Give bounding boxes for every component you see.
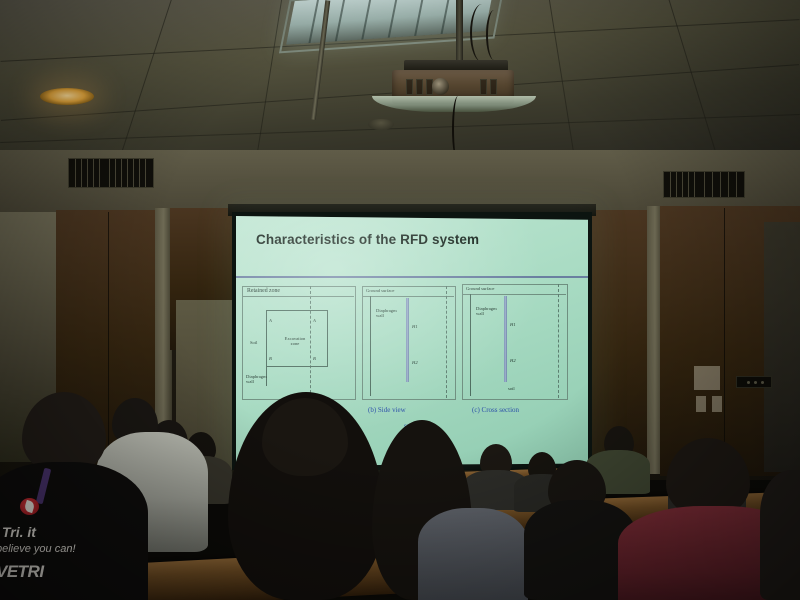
slide-title: Characteristics of the RFD system (256, 232, 479, 247)
figure-b-side-view (362, 286, 456, 400)
label-h1-c: H1 (510, 322, 516, 327)
shirt-text-line2: believe you can! (0, 543, 76, 555)
wall-notice (694, 366, 720, 390)
shirt-brand: VETRI (0, 562, 44, 582)
wall-notice-2 (696, 396, 706, 412)
projector-pole (456, 0, 463, 66)
label-soil-c: soil (508, 386, 515, 391)
label-ground-surface-c: Ground surface (466, 286, 494, 291)
caption-figure-b: (b) Side view (368, 406, 406, 414)
label-diaphragm-wall-c: Diaphragm wall (476, 306, 502, 317)
label-diaphragm-wall-b: Diaphragm wall (376, 308, 402, 319)
label-ground-surface-b: Ground surface (366, 288, 394, 293)
label-soil-a: Soil (250, 340, 257, 345)
air-vent-left (68, 158, 154, 188)
smoke-detector-icon (368, 119, 394, 130)
slide-figure-area: Retained zone Soil Diaphragm wall Excava… (240, 282, 584, 402)
recessed-downlight (40, 88, 94, 105)
title-divider (236, 276, 588, 278)
shirt-emblem-icon (20, 498, 39, 515)
wall-speaker (736, 376, 772, 388)
air-vent-right (663, 171, 745, 198)
label-a-point-2: A (313, 318, 316, 323)
lecture-hall-photo: Characteristics of the RFD system Retain… (0, 0, 800, 600)
label-h2-b: H2 (412, 360, 418, 365)
label-b-point: B (269, 356, 272, 361)
shirt-text-line1: Tri. it (2, 524, 36, 540)
label-excavation-zone: Excavation zone (284, 336, 306, 347)
label-diaphragm-wall-a: Diaphragm wall (246, 374, 272, 385)
right-door (764, 222, 800, 472)
caption-figure-c: (c) Cross section (472, 406, 519, 414)
label-h1-b: H1 (412, 324, 418, 329)
label-a-point: A (269, 318, 272, 323)
figure-c-cross-section (462, 284, 568, 400)
label-retained-zone: Retained zone (247, 288, 280, 295)
wall-notice-3 (712, 396, 722, 412)
projector-lens-icon (432, 78, 449, 95)
label-b-point-2: B (313, 356, 316, 361)
label-h2-c: H2 (510, 358, 516, 363)
projector-cable-2 (486, 10, 502, 60)
